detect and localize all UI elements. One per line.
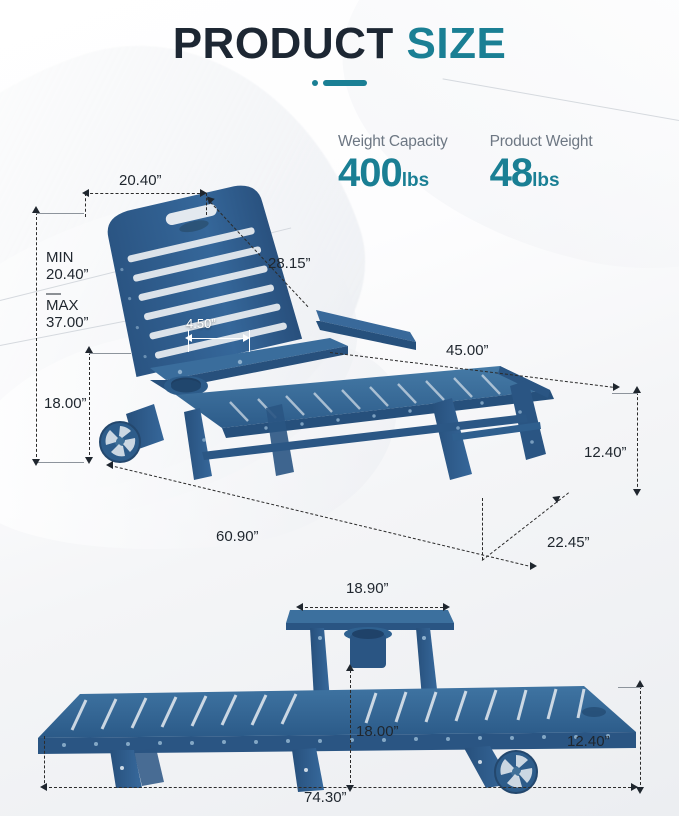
dim-side-seat-height-line [350, 670, 351, 788]
dim-overall-depth-arrow-left [106, 461, 113, 469]
dim-foot-height-tick-top [612, 393, 638, 394]
dim-seat-height-label: 18.00” [44, 395, 87, 412]
dim-headrest-max-word: MAX [46, 298, 89, 315]
stat-product-weight: Product Weight 48lbs [490, 133, 593, 193]
chair-perspective-illustration [80, 190, 640, 490]
dim-backrest-height-label: 28.15” [268, 255, 311, 272]
dim-backrest-top-width-line [300, 607, 448, 608]
chair-side-illustration [24, 590, 654, 795]
dim-seat-height-arrow-bottom [85, 457, 93, 464]
stat-number: 400 [338, 151, 402, 195]
dim-side-seat-height-label: 18.00” [356, 723, 399, 740]
title-product: PRODUCT [173, 19, 394, 68]
stat-unit: lbs [402, 170, 429, 191]
dim-seat-height-line [89, 352, 90, 460]
stat-unit: lbs [532, 170, 559, 191]
dim-overall-length-arrow-right [631, 783, 638, 791]
wheel-assembly [100, 404, 164, 462]
dim-seat-height-arrow-top [85, 346, 93, 353]
dim-backrest-width-label: 20.40” [119, 172, 162, 189]
dim-side-foot-height-tick-top [618, 687, 642, 688]
dim-foot-height-label: 12.40” [584, 444, 627, 461]
title-accent-rule [0, 80, 679, 86]
dim-overall-width-ext [482, 498, 483, 560]
dim-overall-width-label: 22.45” [547, 534, 590, 551]
stat-weight-capacity: Weight Capacity 400lbs [338, 133, 448, 193]
folded-backrest [286, 610, 454, 700]
dim-backrest-top-width-arrow-left [296, 603, 303, 611]
dim-side-foot-height-arrow-top [636, 680, 644, 687]
header: PRODUCT SIZE [0, 22, 679, 86]
dim-side-foot-height-label: 12.40” [567, 733, 610, 750]
stat-caption: Weight Capacity [338, 133, 448, 151]
dim-headrest-range-arrow-bottom [32, 459, 40, 466]
backrest [100, 179, 303, 377]
dim-overall-width-arrow [552, 493, 562, 504]
dim-backrest-top-width-label: 18.90” [346, 580, 389, 597]
dim-foot-height-line [637, 392, 638, 492]
accent-bar [323, 80, 367, 86]
dim-armrest-width-line [188, 338, 248, 339]
dim-headrest-max-value: 37.00” [46, 315, 89, 332]
dim-armrest-width-arrow-left [185, 334, 192, 342]
dim-overall-length-ext-left [44, 736, 45, 788]
dim-headrest-range-arrow-top [32, 206, 40, 213]
page-title: PRODUCT SIZE [0, 22, 679, 66]
dim-headrest-range-tick-top [36, 213, 84, 214]
dim-headrest-range-line [36, 212, 37, 462]
stat-value: 48lbs [490, 153, 593, 193]
dim-overall-depth-label: 60.90” [216, 528, 259, 545]
dim-foot-height-arrow-top [633, 386, 641, 393]
dim-overall-length-label: 74.30” [304, 789, 347, 806]
stats-row: Weight Capacity 400lbs Product Weight 48… [338, 133, 592, 193]
dim-overall-length-arrow-left [40, 783, 47, 791]
dim-armrest-width-arrow-right [243, 334, 250, 342]
dim-overall-length-line [44, 787, 636, 788]
side-legs [110, 746, 512, 792]
accent-dot [312, 80, 318, 86]
dim-headrest-min: MIN 20.40” [46, 250, 89, 284]
dim-seat-height-tick-top [89, 353, 131, 354]
product-size-infographic: PRODUCT SIZE Weight Capacity 400lbs Prod… [0, 0, 679, 816]
dim-backrest-width-arrow-left [82, 189, 89, 197]
title-size: SIZE [407, 19, 507, 68]
side-deck [38, 686, 636, 754]
dim-side-seat-height-arrow-bottom [346, 785, 354, 792]
dim-headrest-range-tick-bottom [36, 462, 84, 463]
dim-side-foot-height-line [640, 686, 641, 790]
stat-number: 48 [490, 151, 533, 195]
dim-armrest-width-label: 4.50” [186, 316, 216, 331]
dim-headrest-max: MAX 37.00” [46, 298, 89, 332]
dim-side-seat-height-arrow-top [346, 664, 354, 671]
dim-headrest-min-value: 20.40” [46, 267, 89, 284]
dim-overall-depth-arrow-right [530, 562, 537, 570]
dim-seat-length-label: 45.00” [446, 342, 489, 359]
dim-backrest-top-width-arrow-right [443, 603, 450, 611]
dim-backrest-width-line [85, 193, 205, 194]
dim-foot-height-arrow-bottom [633, 489, 641, 496]
stat-caption: Product Weight [490, 133, 593, 151]
dim-seat-length-arrow-right [613, 383, 620, 391]
stat-value: 400lbs [338, 153, 448, 193]
dim-headrest-min-word: MIN [46, 250, 89, 267]
